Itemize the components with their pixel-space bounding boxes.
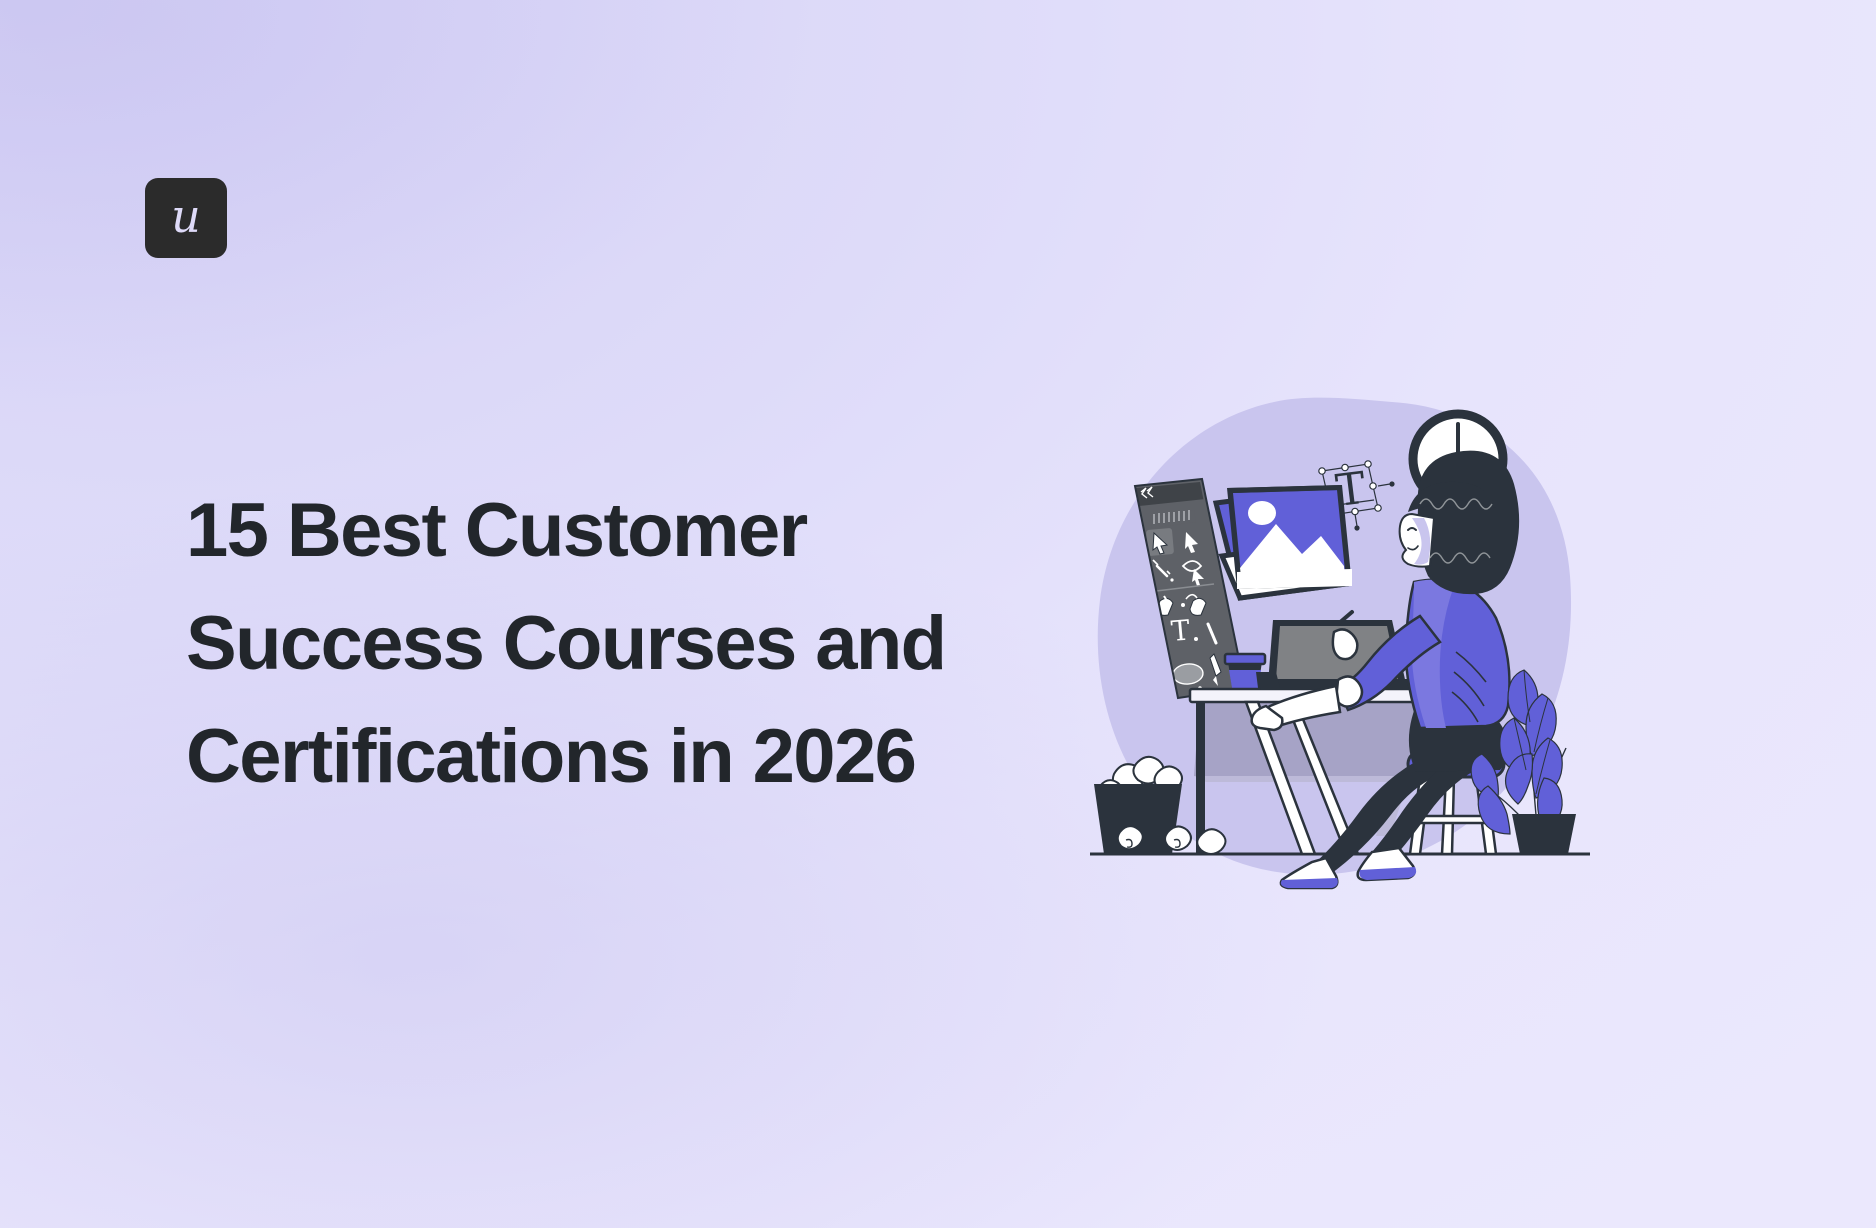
page-title: 15 Best Customer Success Courses and Cer… (186, 474, 1006, 813)
logo-letter: u (171, 193, 201, 239)
designer-at-desk-illustration: T (1090, 396, 1590, 896)
page-title-line-1: 15 Best Customer (186, 474, 1006, 587)
picture-frame (1216, 485, 1352, 598)
page-title-line-3: Certifications in 2026 (186, 700, 1006, 813)
page-title-line-2: Success Courses and (186, 587, 1006, 700)
svg-text:T: T (1170, 613, 1192, 648)
logo-badge[interactable]: u (145, 178, 227, 258)
hero-banner: u 15 Best Customer Success Courses and C… (0, 0, 1876, 1228)
